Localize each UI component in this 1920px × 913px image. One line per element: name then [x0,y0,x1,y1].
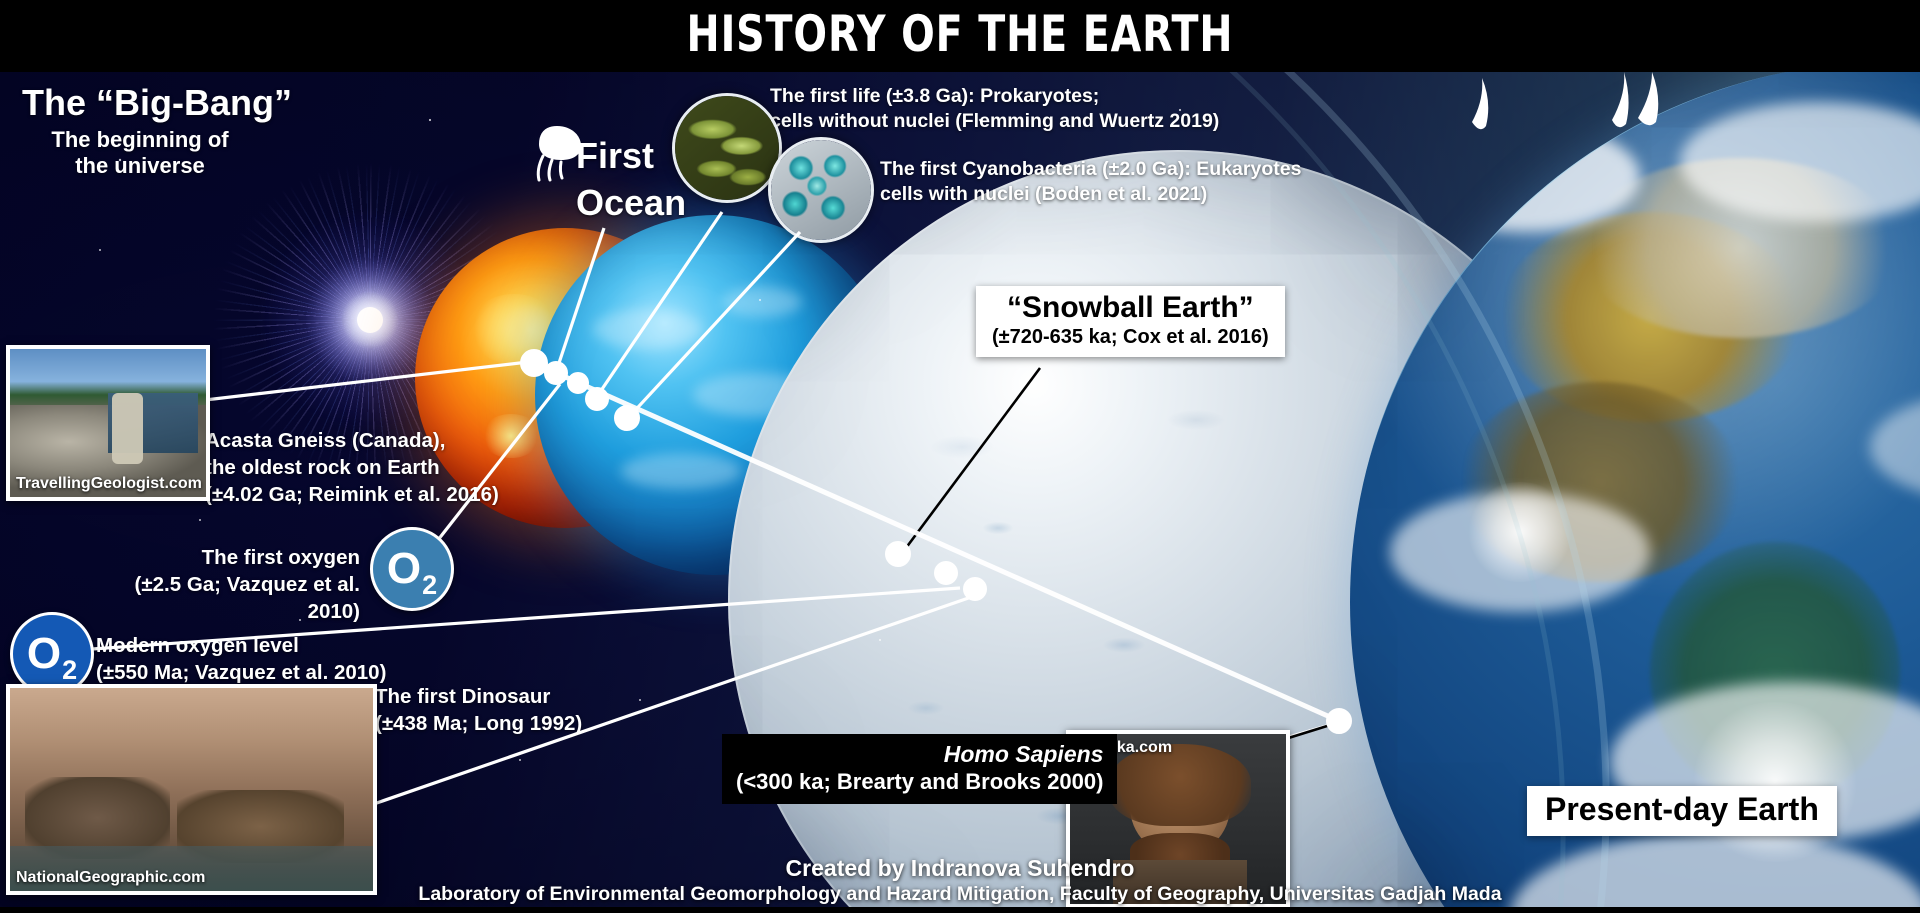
o2-symbol: O [387,547,421,591]
bottom-band [0,907,1920,913]
title-bar: HISTORY OF THE EARTH [0,0,1920,72]
big-bang-subtitle: The beginning of the universe [40,127,240,179]
infographic-canvas: HISTORY OF THE EARTH [0,0,1920,913]
o2-subscript: 2 [422,570,437,601]
photo-watermark: TravellingGeologist.com [16,475,202,493]
prokaryote-photo-circle [672,93,782,203]
first-dinosaur-label: The first Dinosaur (±438 Ma; Long 1992) [375,683,582,737]
homo-sapiens-callout: Homo Sapiens (<300 ka; Brearty and Brook… [722,734,1117,804]
first-oxygen-label: The first oxygen (±2.5 Ga; Vazquez et al… [80,544,360,625]
snowball-earth-citation: (±720-635 ka; Cox et al. 2016) [992,325,1269,349]
homo-sapiens-title: Homo Sapiens [736,741,1103,768]
big-bang-title: The “Big-Bang” [22,82,292,124]
o2-symbol: O [27,632,61,676]
cyanobacteria-photo-circle [768,137,874,243]
credits-affiliation: Laboratory of Environmental Geomorpholog… [0,882,1920,907]
acasta-gneiss-label: Acasta Gneiss (Canada), the oldest rock … [205,427,499,508]
modern-oxygen-label: Modern oxygen level (±550 Ma; Vazquez et… [96,632,386,686]
water-splash-icon [527,122,587,184]
o2-subscript: 2 [62,655,77,686]
credits: Created by Indranova Suhendro Laboratory… [0,855,1920,907]
first-life-label: The first life (±3.8 Ga): Prokaryotes; c… [770,84,1219,134]
page-title: HISTORY OF THE EARTH [115,5,1805,63]
snowball-earth-title: “Snowball Earth” [992,291,1269,325]
first-cyanobacteria-label: The first Cyanobacteria (±2.0 Ga): Eukar… [880,157,1301,207]
acasta-gneiss-photo: TravellingGeologist.com [6,345,210,501]
credits-author: Created by Indranova Suhendro [0,855,1920,882]
o2-badge-first-oxygen: O 2 [370,527,454,611]
snowball-earth-callout: “Snowball Earth” (±720-635 ka; Cox et al… [976,286,1285,357]
homo-sapiens-citation: (<300 ka; Brearty and Brooks 2000) [736,768,1103,795]
present-day-earth-label: Present-day Earth [1527,786,1837,836]
